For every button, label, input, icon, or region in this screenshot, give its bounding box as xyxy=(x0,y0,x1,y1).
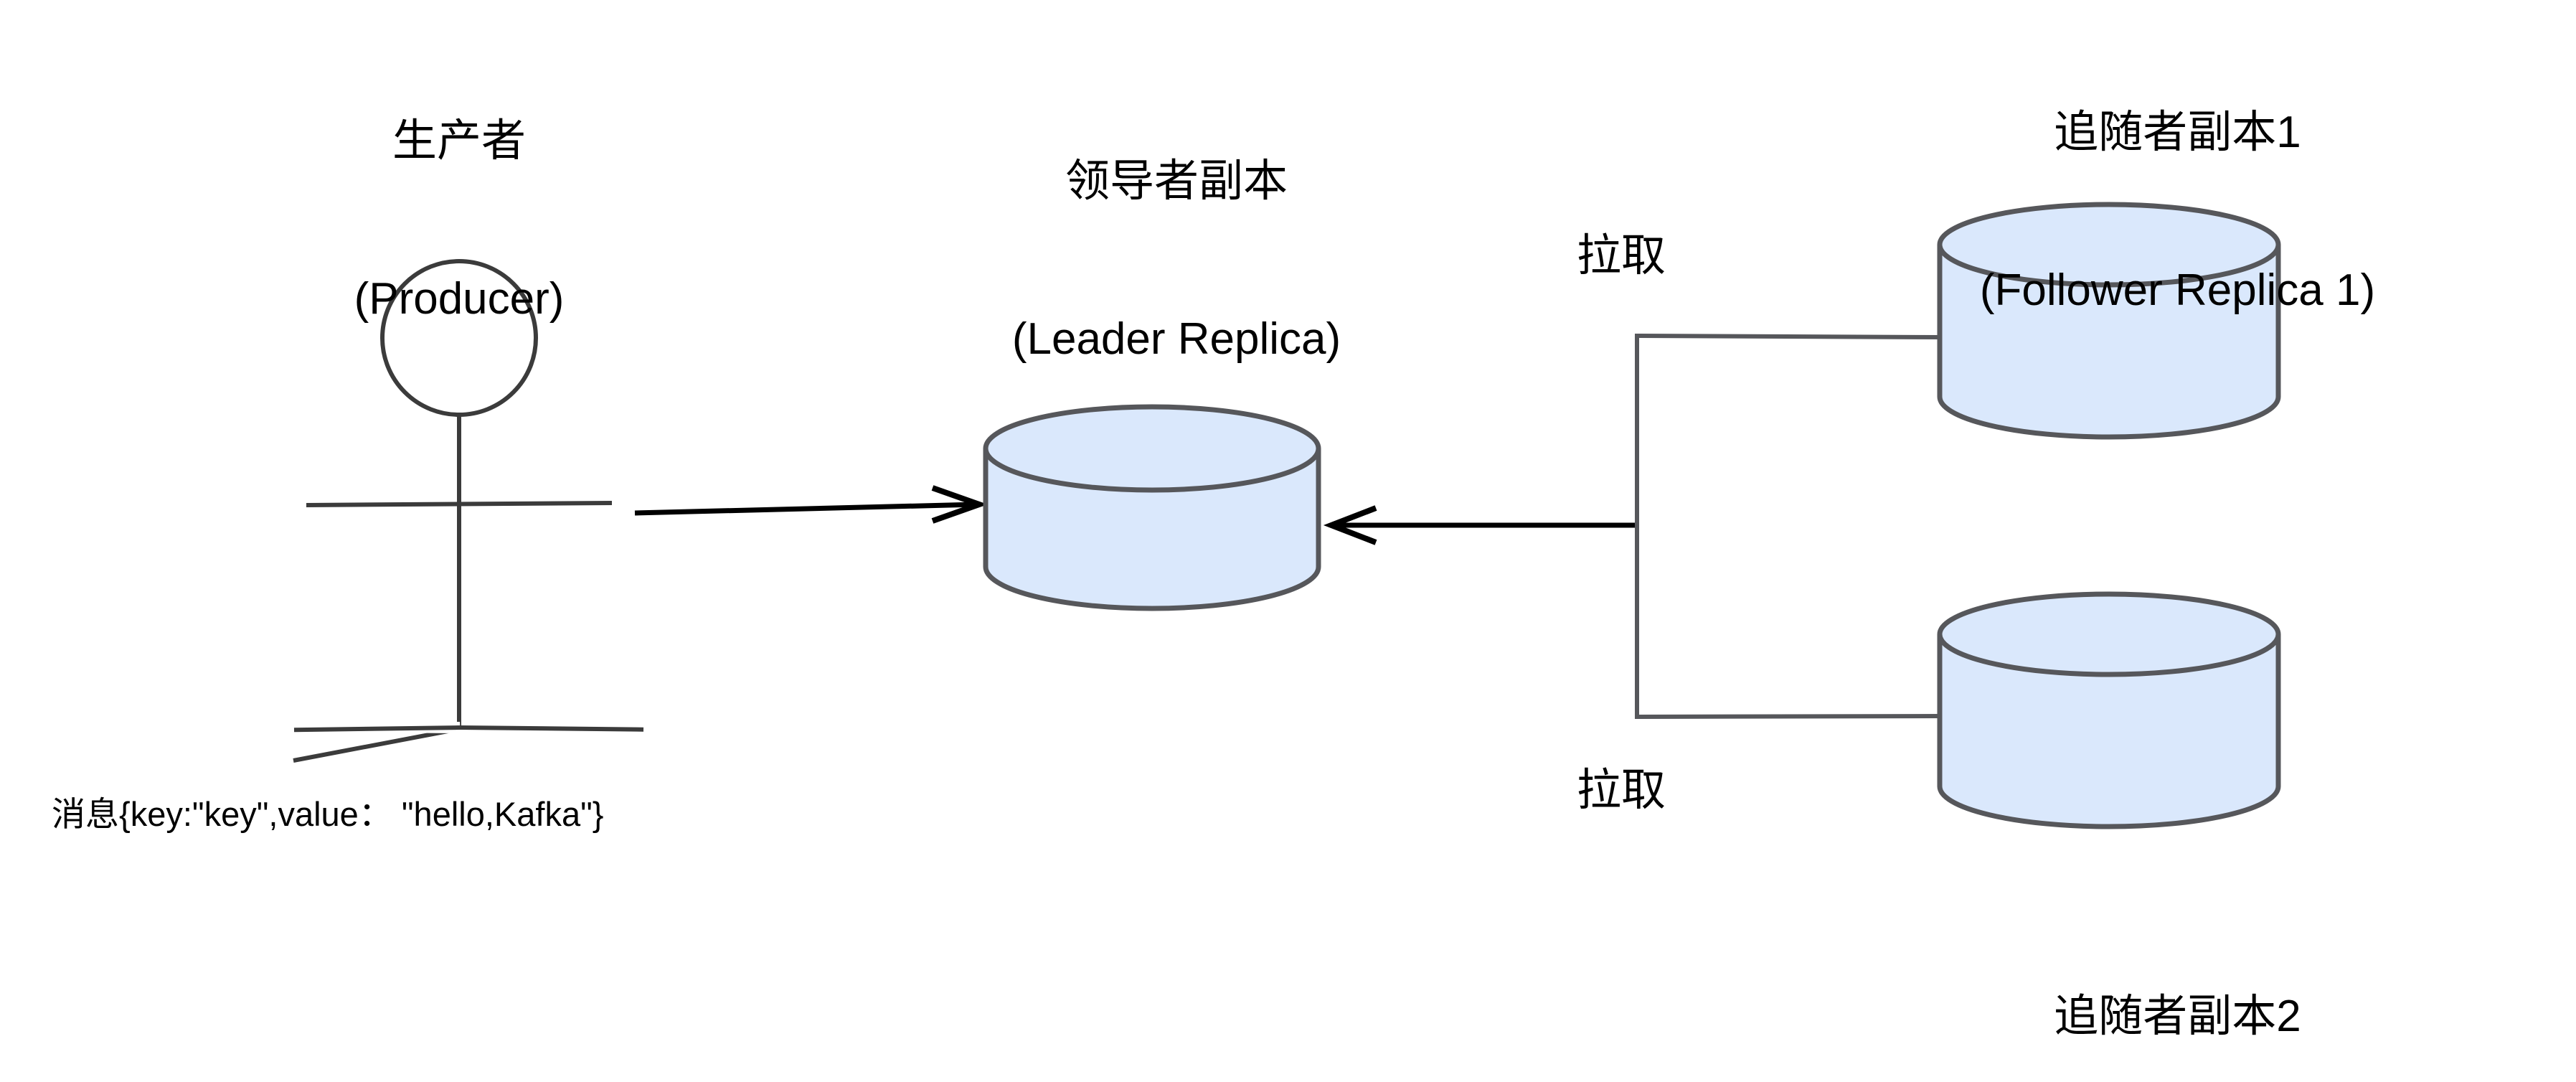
follower-replica-2-cylinder[interactable] xyxy=(1940,594,2278,827)
producer-arms-line xyxy=(306,503,612,505)
pull-label-top: 拉取 xyxy=(1478,230,1765,282)
pull-label-bottom: 拉取 xyxy=(1478,764,1765,817)
producer-label-en: (Producer) xyxy=(237,273,681,325)
follower2-label-cn: 追随者副本2 xyxy=(1779,990,2576,1043)
diagram-canvas: 生产者 (Producer) 领导者副本 (Leader Replica) 追随… xyxy=(0,0,2576,1082)
producer-leg-r xyxy=(460,725,643,733)
follower2-cylinder-body xyxy=(1940,594,2278,827)
follower-replica-1-label: 追随者副本1 (Follower Replica 1) xyxy=(1779,1,2576,421)
follower1-label-en: (Follower Replica 1) xyxy=(1779,264,2576,316)
producer-left-leg-line xyxy=(293,729,459,761)
leader-label-cn: 领导者副本 xyxy=(725,155,1628,207)
producer-to-leader-arrow[interactable] xyxy=(635,488,979,521)
follower-replica-2-label: 追随者副本2 (Follower Replica 2) xyxy=(1779,885,2576,1082)
message-annotation: 消息{key:"key",value： "hello,Kafka"} xyxy=(52,794,1056,834)
followers-to-leader-arrow[interactable] xyxy=(1331,508,1635,542)
leader-label-en: (Leader Replica) xyxy=(725,313,1628,365)
branch-bottom-line-to-follower2 xyxy=(1635,716,1941,717)
follower1-label-cn: 追随者副本1 xyxy=(1779,106,2576,159)
producer-label-cn: 生产者 xyxy=(237,115,681,167)
produce-arrow-shaft xyxy=(635,504,977,513)
producer-label: 生产者 (Producer) xyxy=(237,10,681,430)
